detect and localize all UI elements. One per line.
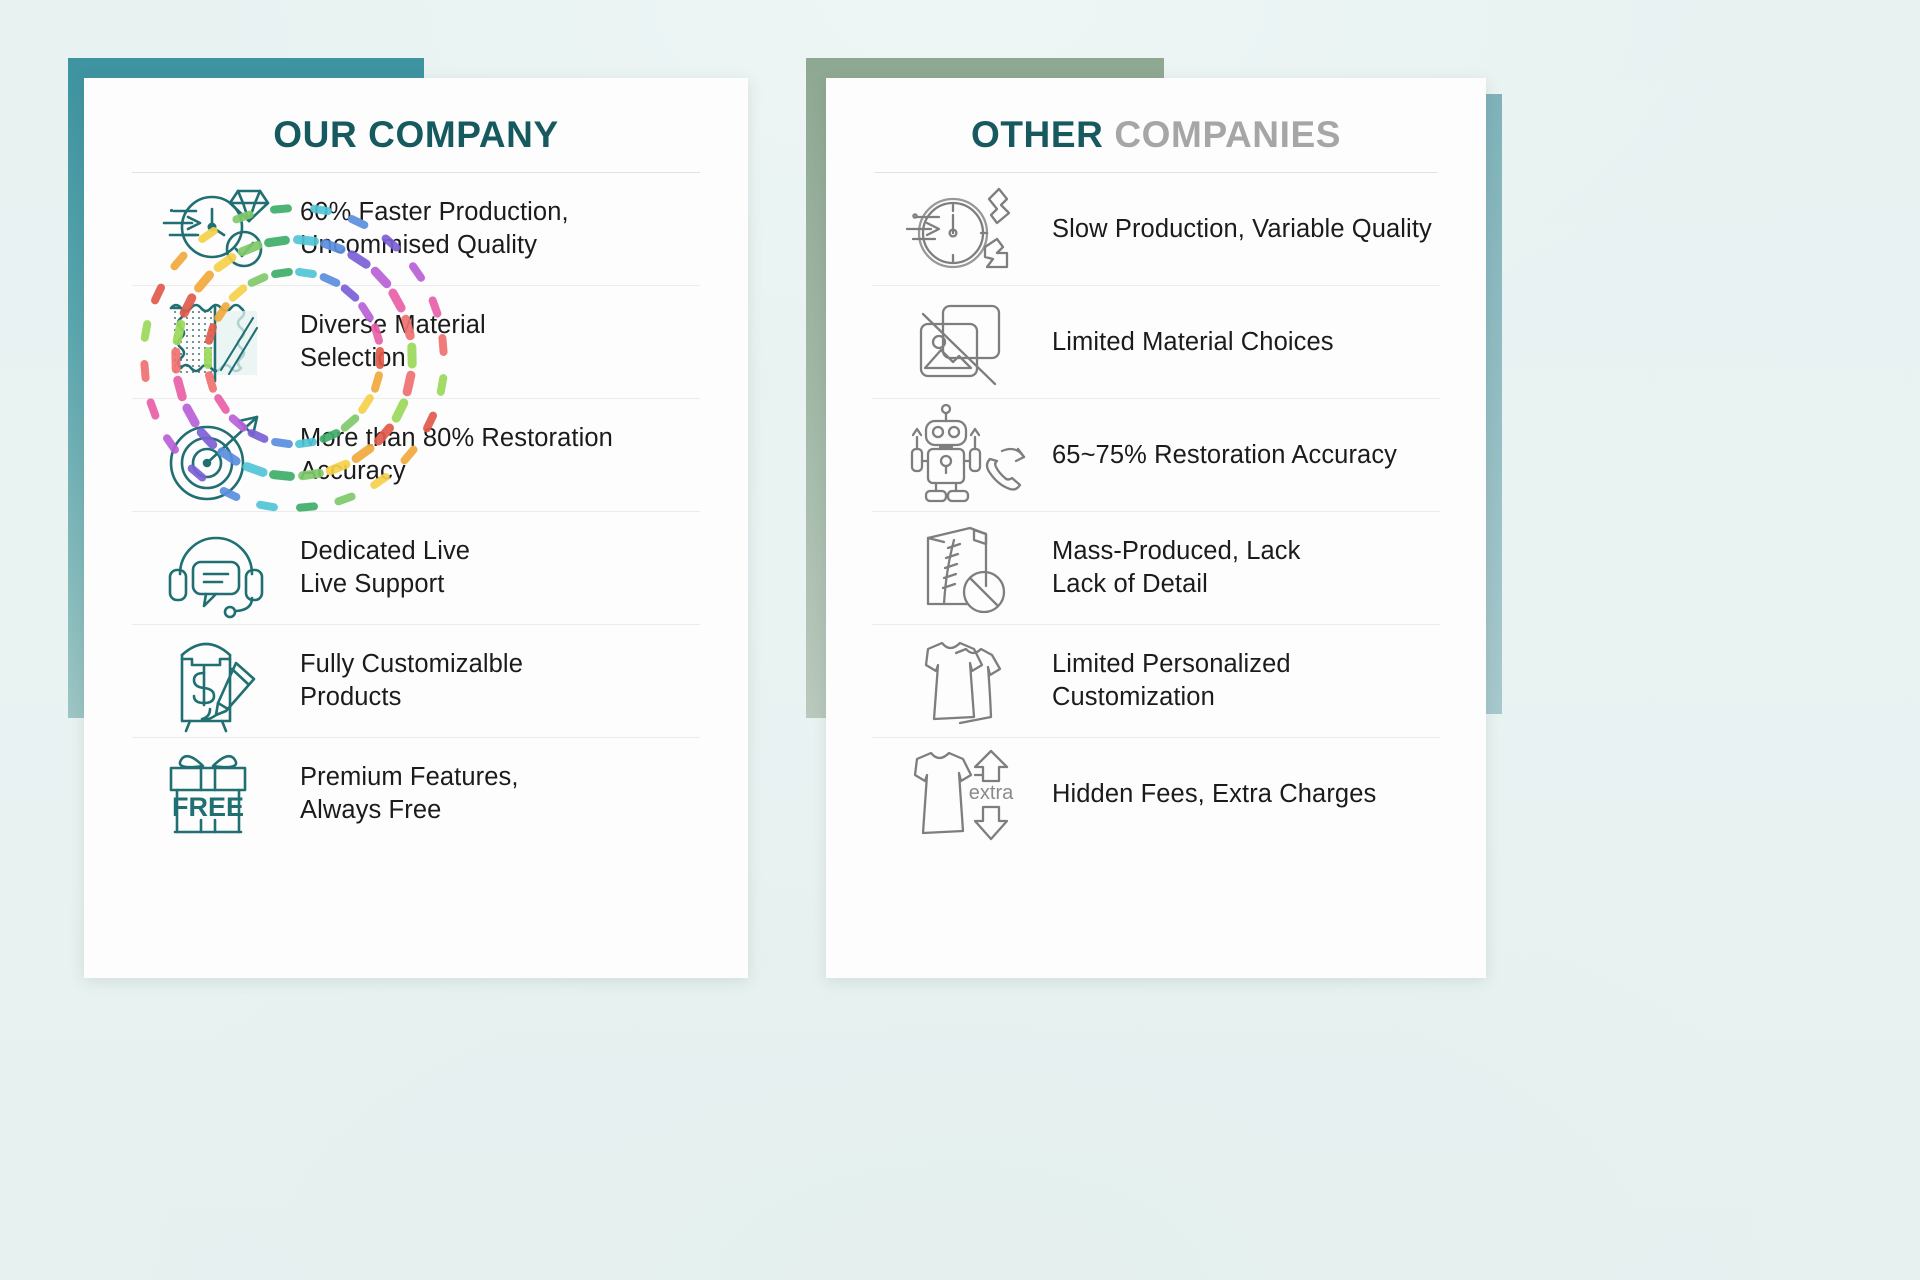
table-row: Limited Material Choices xyxy=(872,286,1440,399)
table-row: Fully Customizalble Products xyxy=(132,625,700,738)
table-row: More than 80% Restoration Accuracy xyxy=(132,399,700,512)
other-companies-card-wrapper: OTHER COMPANIES xyxy=(806,58,1526,978)
row-label: Dedicated Live Live Support xyxy=(300,535,470,600)
row-label: Hidden Fees, Extra Charges xyxy=(1052,778,1376,811)
table-row: FREE Premium Features, Always Free xyxy=(132,738,700,850)
two-tshirts-icon xyxy=(872,629,1052,733)
row-label: 65~75% Restoration Accuracy xyxy=(1052,439,1397,472)
robot-callback-icon xyxy=(872,403,1052,507)
headset-support-icon xyxy=(132,518,300,618)
our-company-card-wrapper: OUR COMPANY xyxy=(68,58,768,978)
table-row: 65~75% Restoration Accuracy xyxy=(872,399,1440,512)
our-company-row-list: 60% Faster Production, Uncommised Qualit… xyxy=(84,173,748,850)
fast-clock-diamond-check-icon xyxy=(132,177,300,281)
title-companies: COMPANIES xyxy=(1114,114,1341,155)
easel-pencil-icon xyxy=(132,629,300,733)
table-row: Dedicated Live Live Support xyxy=(132,512,700,625)
row-label: Limited Personalized Customization xyxy=(1052,648,1291,713)
other-companies-card: OTHER COMPANIES xyxy=(826,78,1486,978)
title-our: OUR xyxy=(273,114,357,155)
row-label: Premium Features, Always Free xyxy=(300,761,519,826)
slow-clock-broken-icon xyxy=(872,177,1052,281)
row-label: 60% Faster Production, Uncommised Qualit… xyxy=(300,196,569,261)
row-label: Fully Customizalble Products xyxy=(300,648,523,713)
garment-pattern-block-icon xyxy=(872,516,1052,620)
title-other: OTHER xyxy=(971,114,1104,155)
table-row: Limited Personalized Customization xyxy=(872,625,1440,738)
our-company-card: OUR COMPANY xyxy=(84,78,748,978)
other-companies-row-list: Slow Production, Variable Quality xyxy=(826,173,1486,850)
row-label: Mass-Produced, Lack Lack of Detail xyxy=(1052,535,1301,600)
table-row: Slow Production, Variable Quality xyxy=(872,173,1440,286)
row-label: Diverse Material Selection xyxy=(300,309,486,374)
gift-free-icon: FREE xyxy=(132,744,300,844)
row-label: Slow Production, Variable Quality xyxy=(1052,213,1432,246)
row-label: Limited Material Choices xyxy=(1052,326,1334,359)
extra-label: extra xyxy=(969,782,1014,804)
table-row: 60% Faster Production, Uncommised Qualit… xyxy=(132,173,700,286)
other-companies-title: OTHER COMPANIES xyxy=(826,78,1486,172)
table-row: extra Hidden Fees, Extra Charges xyxy=(872,738,1440,850)
tshirt-extra-arrows-icon: extra xyxy=(872,741,1052,847)
no-image-icon xyxy=(872,292,1052,392)
table-row: Diverse Material Selection xyxy=(132,286,700,399)
target-dart-icon xyxy=(132,403,300,507)
our-company-title: OUR COMPANY xyxy=(84,78,748,172)
row-label: More than 80% Restoration Accuracy xyxy=(300,422,613,487)
fabric-swatch-icon xyxy=(132,292,300,392)
table-row: Mass-Produced, Lack Lack of Detail xyxy=(872,512,1440,625)
title-company: COMPANY xyxy=(368,114,559,155)
gift-free-label: FREE xyxy=(172,792,244,822)
